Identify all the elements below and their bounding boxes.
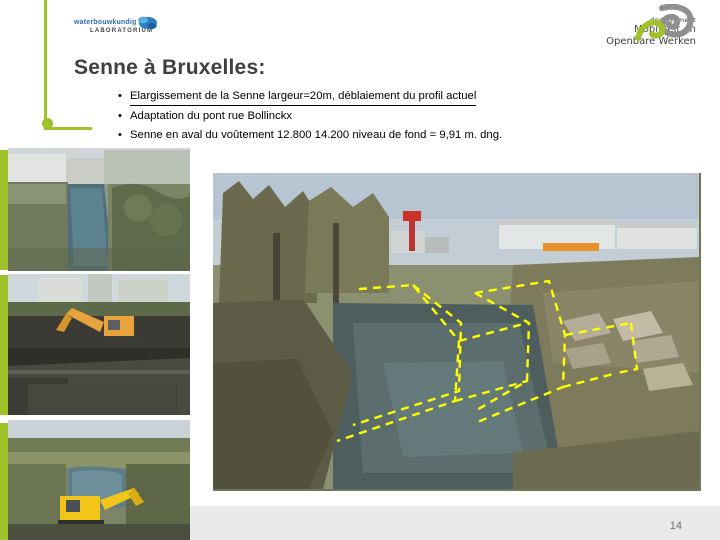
- departement-mobiliteit-openbare-werken-logo: departement Mobiliteit en Openbare Werke…: [576, 16, 696, 76]
- page-number: 14: [670, 520, 682, 532]
- page-title: Senne à Bruxelles:: [74, 56, 266, 80]
- waterbouwkundig-laboratorium-logo: waterbouwkundig LABORATORIUM: [74, 17, 170, 45]
- list-item: • Elargissement de la Senne largeur=20m,…: [118, 88, 618, 106]
- bullet-list: • Elargissement de la Senne largeur=20m,…: [118, 88, 618, 146]
- left-bar-notch-top: [0, 0, 14, 150]
- bullet-text-3: Senne en aval du voûtement 12.800 14.200…: [130, 127, 502, 144]
- bullet-marker: •: [118, 127, 130, 144]
- corner-rule-vertical: [44, 0, 47, 130]
- photo-excavator-riverbank: [8, 274, 190, 415]
- list-item: • Adaptation du pont rue Bollinckx: [118, 108, 618, 125]
- bullet-text-2: Adaptation du pont rue Bollinckx: [130, 108, 292, 125]
- bullet-marker: •: [118, 88, 130, 105]
- corner-dot: [42, 118, 53, 129]
- logo-left-line1: waterbouwkundig: [74, 19, 137, 26]
- list-item: • Senne en aval du voûtement 12.800 14.2…: [118, 127, 618, 144]
- photo-senne-channel-narrow: [8, 148, 190, 271]
- bullet-text-1: Elargissement de la Senne largeur=20m, d…: [130, 88, 476, 106]
- bullet-marker: •: [118, 108, 130, 125]
- photo-excavator-yellow: [8, 420, 190, 540]
- photo-main-river-profile: [212, 172, 702, 492]
- swirl-icon: [632, 4, 696, 44]
- water-drop-icon: [136, 15, 158, 31]
